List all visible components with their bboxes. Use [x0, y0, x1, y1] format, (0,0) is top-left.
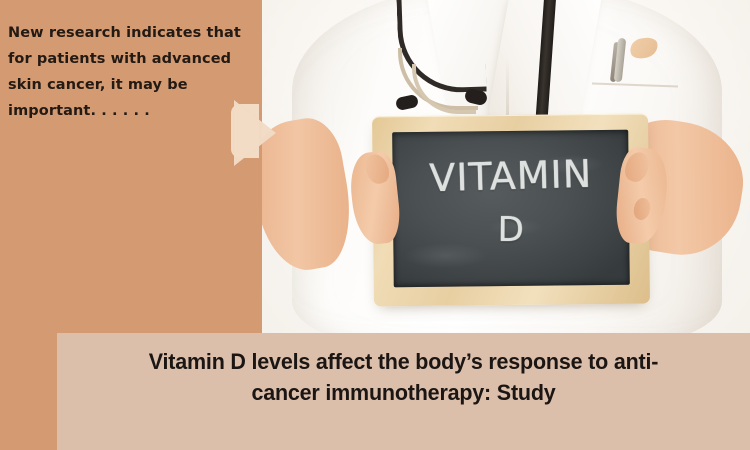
teaser-line-1: New research indicates that	[8, 20, 248, 46]
teaser-text: New research indicates that for patients…	[8, 20, 248, 124]
headline-line-1: Vitamin D levels affect the body’s respo…	[73, 346, 735, 377]
headline-line-2: cancer immunotherapy: Study	[73, 377, 735, 408]
teaser-line-2: for patients with advanced	[8, 46, 248, 72]
news-card: VITAMIN D New research indicates that fo…	[0, 0, 750, 450]
play-triangle-icon[interactable]	[234, 100, 276, 166]
headline-bar: Vitamin D levels affect the body’s respo…	[57, 333, 750, 450]
teaser-line-4: important. . . . . .	[8, 98, 248, 124]
teaser-line-3: skin cancer, it may be	[8, 72, 248, 98]
